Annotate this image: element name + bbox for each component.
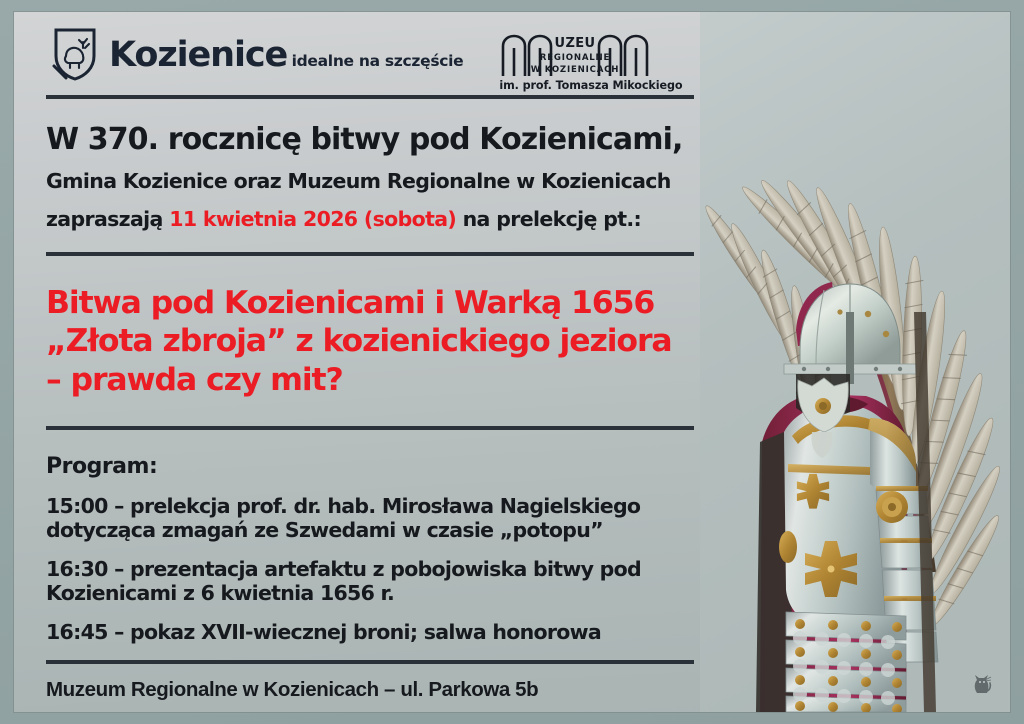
program-item: 16:30 – prezentacja artefaktu z pobojowi… xyxy=(46,557,706,605)
kozienice-name: Kozienice xyxy=(109,35,287,75)
svg-text:REGIONALNE: REGIONALNE xyxy=(540,53,610,63)
venue-address: Muzeum Regionalne w Kozienicach – ul. Pa… xyxy=(46,678,706,702)
kozienice-wordmark: Kozienice idealne na szczęście xyxy=(109,35,463,73)
lecture-title-block: Bitwa pod Kozienicami i Warką 1656 „Złot… xyxy=(46,284,706,399)
divider-above-footer xyxy=(46,660,694,664)
footer-block: Muzeum Regionalne w Kozienicach – ul. Pa… xyxy=(46,678,706,702)
program-item-line1: 16:45 – pokaz XVII-wiecznej broni; salwa… xyxy=(46,620,706,644)
program-item: 15:00 – prelekcja prof. dr. hab. Mirosła… xyxy=(46,494,706,542)
intro-headline: W 370. rocznicę bitwy pod Kozienicami, xyxy=(46,124,706,156)
intro-organizers: Gmina Kozienice oraz Muzeum Regionalne w… xyxy=(46,170,706,193)
invite-suffix: na prelekcję pt.: xyxy=(456,207,641,231)
logo-row: Kozienice idealne na szczęście xyxy=(52,26,651,100)
muzeum-patron: im. prof. Tomasza Mikockiego xyxy=(499,79,682,92)
program-item-line2: Kozienicami z 6 kwietnia 1656 r. xyxy=(46,581,706,605)
kozienice-tagline: idealne na szczęście xyxy=(292,52,464,70)
winged-hussar-image xyxy=(700,12,1010,712)
program-item: 16:45 – pokaz XVII-wiecznej broni; salwa… xyxy=(46,620,706,644)
svg-text:W KOZIENICACH: W KOZIENICACH xyxy=(531,65,620,75)
program-item-line1: 15:00 – prelekcja prof. dr. hab. Mirosła… xyxy=(46,494,706,518)
kozienice-logo: Kozienice idealne na szczęście xyxy=(52,26,463,82)
divider-top xyxy=(46,95,694,99)
muzeum-logo: UZEU REGIONALNE W KOZIENICACH im. prof. … xyxy=(499,26,651,94)
title-line-1: Bitwa pod Kozienicami i Warką 1656 xyxy=(46,284,706,322)
divider-above-program xyxy=(46,426,694,430)
invite-prefix: zapraszają xyxy=(46,207,169,231)
intro-invite: zapraszają 11 kwietnia 2026 (sobota) na … xyxy=(46,208,706,231)
divider-above-title xyxy=(46,252,694,256)
poster-page: Kozienice idealne na szczęście xyxy=(14,12,1010,712)
svg-text:UZEU: UZEU xyxy=(555,36,596,51)
cat-watermark-icon xyxy=(971,671,993,695)
program-heading: Program: xyxy=(46,454,706,479)
invite-date: 11 kwietnia 2026 (sobota) xyxy=(169,207,456,231)
stag-shield-icon xyxy=(52,26,98,82)
poster-root: Kozienice idealne na szczęście xyxy=(0,0,1024,724)
muzeum-arches-icon: UZEU REGIONALNE W KOZIENICACH xyxy=(499,32,651,76)
program-item-line2: dotycząca zmagań ze Szwedami w czasie „p… xyxy=(46,518,706,542)
title-line-3: – prawda czy mit? xyxy=(46,361,706,399)
program-block: Program: 15:00 – prelekcja prof. dr. hab… xyxy=(46,454,706,644)
program-item-line1: 16:30 – prezentacja artefaktu z pobojowi… xyxy=(46,557,706,581)
intro-block: W 370. rocznicę bitwy pod Kozienicami, G… xyxy=(46,124,706,231)
title-line-2: „Złota zbroja” z kozienickiego jeziora xyxy=(46,322,706,360)
